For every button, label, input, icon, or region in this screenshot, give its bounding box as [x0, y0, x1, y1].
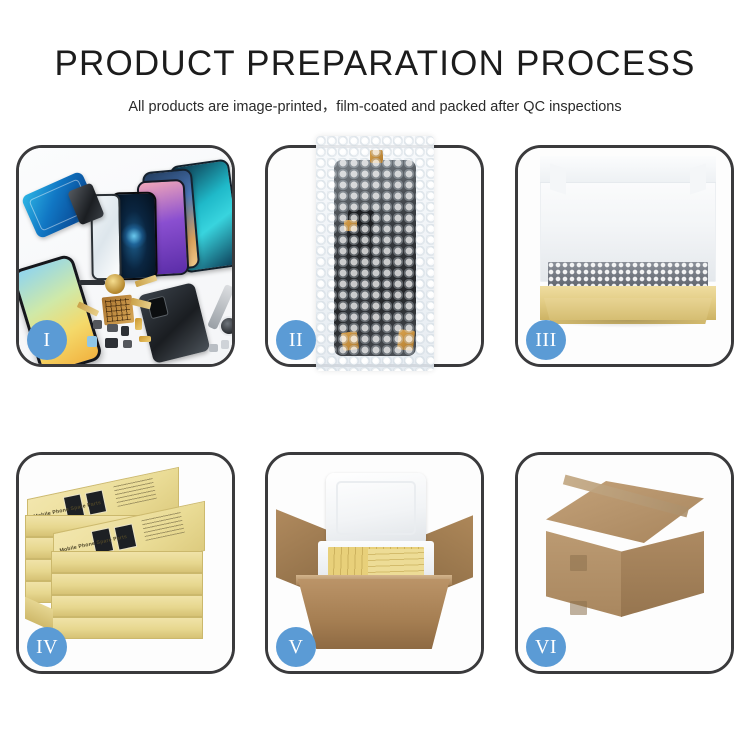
step-badge-5: V [276, 627, 316, 667]
bubble-wrap-package [316, 136, 434, 371]
component-chip [209, 344, 218, 352]
component-chip [221, 340, 229, 349]
step-panel-2: II [265, 145, 484, 367]
component-chip [79, 280, 105, 285]
retail-box [51, 595, 203, 617]
step-panel-1: I [16, 145, 235, 367]
step-panel-4: Mobile Phone Spare Parts Mobile Phone Sp… [16, 452, 235, 674]
component-chip [123, 340, 132, 348]
step-badge-2: II [276, 320, 316, 360]
lid-tab-right [690, 163, 706, 194]
tape-piece [344, 220, 357, 231]
lid-tab-left [550, 163, 566, 194]
step-panel-5: V [265, 452, 484, 674]
speaker-module-icon [105, 274, 125, 294]
step-badge-6: VI [526, 627, 566, 667]
product-preparation-infographic: PRODUCT PREPARATION PROCESS All products… [0, 0, 750, 750]
carton-body [298, 579, 450, 649]
header: PRODUCT PREPARATION PROCESS All products… [0, 0, 750, 116]
component-chip [121, 326, 129, 336]
page-title: PRODUCT PREPARATION PROCESS [0, 44, 750, 84]
logic-board-icon [102, 295, 135, 326]
step-badge-3: III [526, 320, 566, 360]
page-subtitle: All products are image-printed，film-coat… [0, 95, 750, 116]
box-shadow [544, 320, 712, 328]
component-chip [87, 336, 97, 347]
step-panel-3: III [515, 145, 734, 367]
component-chip [139, 336, 151, 342]
retail-box [51, 551, 203, 573]
carton-label-patch [570, 601, 587, 615]
tape-piece [341, 331, 359, 351]
step-panel-6: VI [515, 452, 734, 674]
step-badge-4: IV [27, 627, 67, 667]
foam-box-lid [326, 473, 426, 547]
step-badge-1: I [27, 320, 67, 360]
retail-box [51, 617, 203, 639]
component-chip [105, 338, 118, 348]
component-chip [135, 318, 142, 330]
tape-piece [397, 329, 415, 351]
carton-label-patch [570, 555, 587, 571]
component-chip [107, 324, 118, 332]
retail-box [51, 573, 203, 595]
carton-side-face [621, 531, 704, 617]
component-chip [93, 320, 102, 329]
tape-piece [370, 150, 383, 163]
